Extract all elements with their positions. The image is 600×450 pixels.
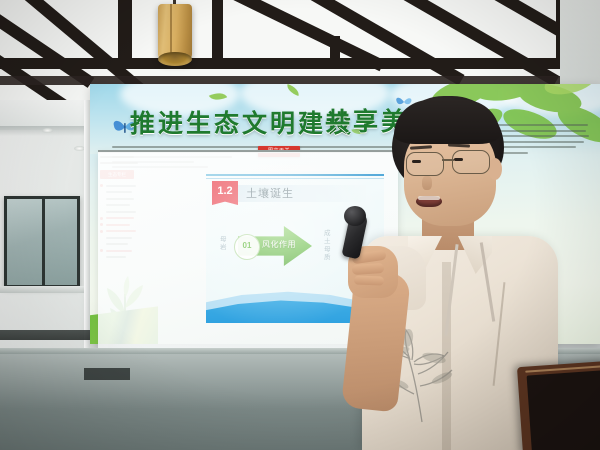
chair-backrest-pad: [527, 370, 600, 450]
lamp-seam: [170, 4, 172, 56]
teeth: [418, 196, 440, 200]
eye: [454, 158, 463, 161]
floor-shadow-patch: [84, 368, 130, 380]
microphone-head: [344, 206, 366, 226]
downlight-icon: [42, 128, 53, 133]
foreground-chair: [517, 361, 600, 450]
arrow-label: 风化作用: [262, 239, 296, 250]
slide-process-diagram: 母岩 01 风化作用 成土母质: [220, 223, 340, 269]
window: [4, 196, 80, 288]
slide-section-title: 土壤诞生: [246, 185, 294, 201]
photo-scene: 推进生态文明建设 共享美 图文无关 生态专栏: [0, 0, 600, 450]
step-badge: 01: [234, 234, 260, 260]
slide-section-badge: 1.2: [212, 181, 238, 205]
hair-fringe: [394, 100, 500, 144]
window-sill: [0, 286, 84, 293]
lamp-rim: [158, 52, 192, 66]
window-mullion: [42, 199, 45, 285]
banner-headline-left: 推进生态文明建设: [130, 104, 354, 140]
eye: [412, 160, 421, 163]
slide-left-label: 母岩: [220, 235, 228, 251]
slide-section-number: 1.2: [212, 181, 238, 201]
step-badge-number: 01: [235, 235, 259, 257]
nose: [422, 176, 432, 190]
